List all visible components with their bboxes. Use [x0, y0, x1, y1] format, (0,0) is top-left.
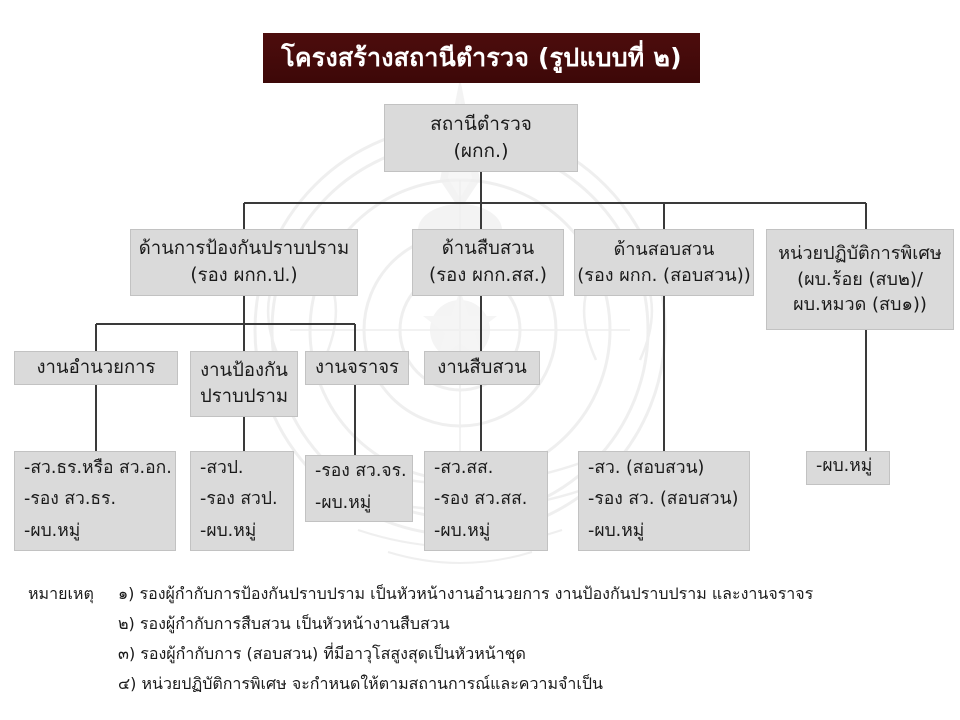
leaf-positions-prevention-suppression: -สวป. -รอง สวป. -ผบ.หมู่ [190, 451, 294, 551]
note-number: ๔) [118, 672, 136, 697]
node-division-special-operations-line1: หน่วยปฏิบัติการพิเศษ [778, 241, 941, 267]
node-section-administration: งานอำนวยการ [14, 351, 178, 385]
node-section-prevention-suppression-line2: ปราบปราม [200, 384, 288, 410]
leaf-positions-special-operations-line1: -ผบ.หมู่ [816, 451, 872, 482]
leaf-positions-administration: -สว.ธร.หรือ สว.อก. -รอง สว.ธร. -ผบ.หมู่ [14, 451, 176, 551]
page-title-text: โครงสร้างสถานีตำรวจ (รูปแบบที่ ๒) [281, 38, 681, 78]
leaf-positions-investigation: -สว.สส. -รอง สว.สส. -ผบ.หมู่ [424, 451, 548, 551]
node-division-prevention-line1: ด้านการป้องกันปราบปราม [139, 236, 349, 262]
node-section-investigation: งานสืบสวน [424, 351, 540, 385]
leaf-positions-administration-line2: -รอง สว.ธร. [24, 484, 116, 515]
node-police-station-line1: สถานีตำรวจ [430, 111, 532, 138]
note-number: ๓) [118, 642, 135, 667]
page-title: โครงสร้างสถานีตำรวจ (รูปแบบที่ ๒) [263, 33, 700, 83]
note-text: รองผู้กำกับการป้องกันปราบปราม เป็นหัวหน้… [140, 582, 814, 607]
leaf-positions-inquiry: -สว. (สอบสวน) -รอง สว. (สอบสวน) -ผบ.หมู่ [578, 451, 750, 551]
note-item: ๔) หน่วยปฏิบัติการพิเศษ จะกำหนดให้ตามสถา… [118, 672, 603, 697]
notes-label: หมายเหตุ [28, 582, 94, 607]
node-section-prevention-suppression: งานป้องกัน ปราบปราม [190, 351, 298, 417]
node-section-administration-line1: งานอำนวยการ [37, 355, 156, 381]
leaf-positions-prevention-suppression-line3: -ผบ.หมู่ [200, 516, 256, 547]
leaf-positions-investigation-line1: -สว.สส. [434, 453, 493, 484]
node-division-investigation-line1: ด้านสืบสวน [442, 236, 534, 262]
organization-chart-page: โครงสร้างสถานีตำรวจ (รูปแบบที่ ๒) [0, 0, 960, 720]
node-division-inquiry-line1: ด้านสอบสวน [614, 237, 715, 263]
note-text: รองผู้กำกับการ (สอบสวน) ที่มีอาวุโสสูงสุ… [140, 642, 526, 667]
note-item: ๓) รองผู้กำกับการ (สอบสวน) ที่มีอาวุโสสู… [118, 642, 526, 667]
node-section-traffic: งานจราจร [305, 351, 409, 385]
node-police-station-line2: (ผกก.) [453, 138, 508, 165]
leaf-positions-traffic: -รอง สว.จร. -ผบ.หมู่ [305, 455, 413, 522]
note-text: หน่วยปฏิบัติการพิเศษ จะกำหนดให้ตามสถานกา… [141, 672, 603, 697]
note-item: ๑) รองผู้กำกับการป้องกันปราบปราม เป็นหัว… [118, 582, 813, 607]
leaf-positions-inquiry-line2: -รอง สว. (สอบสวน) [588, 484, 738, 515]
leaf-positions-prevention-suppression-line2: -รอง สวป. [200, 484, 278, 515]
node-division-investigation-line2: (รอง ผกก.สส.) [429, 263, 547, 289]
leaf-positions-administration-line3: -ผบ.หมู่ [24, 516, 80, 547]
node-division-special-operations-line3: ผบ.หมวด (สบ๑)) [793, 292, 927, 318]
leaf-positions-investigation-line2: -รอง สว.สส. [434, 484, 527, 515]
leaf-positions-administration-line1: -สว.ธร.หรือ สว.อก. [24, 453, 172, 484]
node-division-special-operations: หน่วยปฏิบัติการพิเศษ (ผบ.ร้อย (สบ๒)/ ผบ.… [766, 229, 954, 330]
note-item: ๒) รองผู้กำกับการสืบสวน เป็นหัวหน้างานสื… [118, 612, 450, 637]
leaf-positions-traffic-line1: -รอง สว.จร. [315, 456, 407, 487]
note-number: ๒) [118, 612, 135, 637]
node-section-prevention-suppression-line1: งานป้องกัน [200, 358, 288, 384]
node-division-special-operations-line2: (ผบ.ร้อย (สบ๒)/ [797, 267, 923, 293]
node-division-inquiry-line2: (รอง ผกก. (สอบสวน)) [577, 263, 751, 289]
node-police-station: สถานีตำรวจ (ผกก.) [384, 104, 578, 172]
leaf-positions-inquiry-line1: -สว. (สอบสวน) [588, 453, 704, 484]
node-section-traffic-line1: งานจราจร [315, 355, 399, 381]
leaf-positions-special-operations: -ผบ.หมู่ [806, 451, 890, 485]
node-section-investigation-line1: งานสืบสวน [437, 355, 526, 381]
node-division-prevention: ด้านการป้องกันปราบปราม (รอง ผกก.ป.) [130, 229, 358, 296]
note-text: รองผู้กำกับการสืบสวน เป็นหัวหน้างานสืบสว… [140, 612, 450, 637]
node-division-inquiry: ด้านสอบสวน (รอง ผกก. (สอบสวน)) [574, 229, 754, 296]
leaf-positions-investigation-line3: -ผบ.หมู่ [434, 516, 490, 547]
node-division-prevention-line2: (รอง ผกก.ป.) [190, 263, 297, 289]
note-number: ๑) [118, 582, 134, 607]
node-division-investigation: ด้านสืบสวน (รอง ผกก.สส.) [412, 229, 564, 296]
leaf-positions-inquiry-line3: -ผบ.หมู่ [588, 516, 644, 547]
leaf-positions-traffic-line2: -ผบ.หมู่ [315, 488, 371, 519]
leaf-positions-prevention-suppression-line1: -สวป. [200, 453, 244, 484]
